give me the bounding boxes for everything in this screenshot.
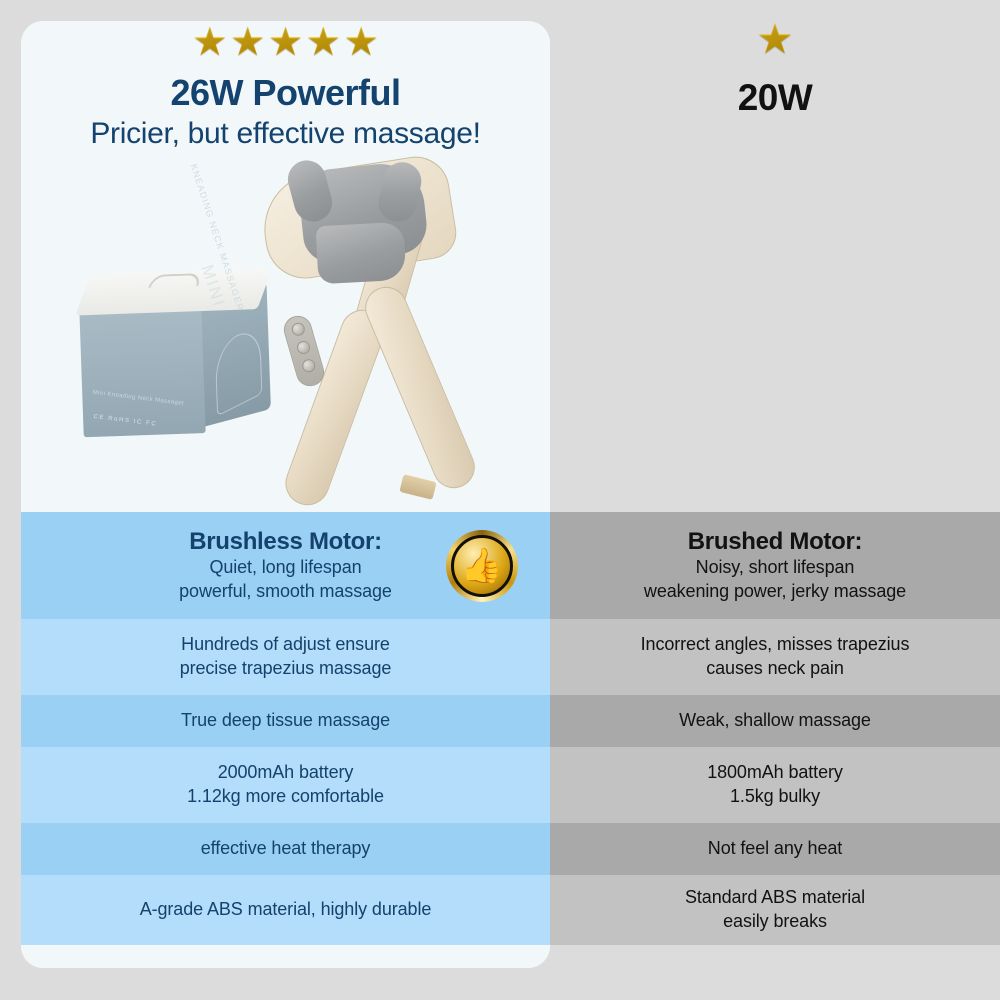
right-product-stage: Shoulder and neck massager Massager shou… xyxy=(550,0,1000,512)
table-cell-left: 2000mAh battery1.12kg more comfortable xyxy=(21,747,550,823)
feature-line: 1.5kg bulky xyxy=(730,785,820,809)
thumbs-up-badge-icon: 👍 xyxy=(446,530,518,602)
box-cert-marks: CE RoHS IC FC xyxy=(93,414,157,428)
table-cell-left: A-grade ABS material, highly durable xyxy=(21,875,550,945)
box-front-face: Mini Kneading Neck Massager CE RoHS IC F… xyxy=(79,305,205,437)
feature-line: Standard ABS material xyxy=(685,886,865,910)
feature-line: Incorrect angles, misses trapezius xyxy=(641,633,910,657)
box-small-text: Mini Kneading Neck Massager xyxy=(92,390,184,407)
table-row: 2000mAh battery1.12kg more comfortable18… xyxy=(0,747,1000,823)
hero-section: ★★★★★ 26W Powerful Pricier, but effectiv… xyxy=(0,0,1000,512)
table-row: effective heat therapyNot feel any heat xyxy=(0,823,1000,875)
feature-line: Hundreds of adjust ensure xyxy=(181,633,390,657)
feature-line: weakening power, jerky massage xyxy=(644,580,906,604)
left-product-stage: Mini Kneading Neck Massager CE RoHS IC F… xyxy=(21,0,550,512)
feature-title: Brushed Motor: xyxy=(688,527,862,556)
feature-line: 1800mAh battery xyxy=(707,761,843,785)
table-cell-left: True deep tissue massage xyxy=(21,695,550,747)
power-button-icon xyxy=(290,321,306,337)
table-cell-left: Hundreds of adjust ensureprecise trapezi… xyxy=(21,619,550,695)
massager-control-panel xyxy=(281,313,328,390)
table-row: Hundreds of adjust ensureprecise trapezi… xyxy=(0,619,1000,695)
table-cell-left: Brushless Motor:Quiet, long lifespanpowe… xyxy=(21,512,550,619)
mode-button-icon xyxy=(295,340,311,356)
feature-line: Not feel any heat xyxy=(708,837,842,861)
feature-line: easily breaks xyxy=(723,910,827,934)
table-cell-right: Not feel any heat xyxy=(550,823,1000,875)
feature-line: True deep tissue massage xyxy=(181,709,390,733)
table-row: True deep tissue massageWeak, shallow ma… xyxy=(0,695,1000,747)
feature-line: Weak, shallow massage xyxy=(679,709,871,733)
feature-line: effective heat therapy xyxy=(201,837,371,861)
table-row: A-grade ABS material, highly durableStan… xyxy=(0,875,1000,945)
feature-line: 2000mAh battery xyxy=(218,761,354,785)
feature-line: precise trapezius massage xyxy=(180,657,392,681)
table-cell-right: Standard ABS materialeasily breaks xyxy=(550,875,1000,945)
hero-left-column: ★★★★★ 26W Powerful Pricier, but effectiv… xyxy=(21,0,550,512)
table-row: Brushless Motor:Quiet, long lifespanpowe… xyxy=(0,512,1000,619)
left-card-footer xyxy=(21,945,550,968)
table-cell-right: Incorrect angles, misses trapeziuscauses… xyxy=(550,619,1000,695)
table-cell-right: Weak, shallow massage xyxy=(550,695,1000,747)
feature-line: powerful, smooth massage xyxy=(179,580,392,604)
left-neck-massager xyxy=(251,160,561,505)
table-cell-right: Brushed Motor:Noisy, short lifespanweake… xyxy=(550,512,1000,619)
table-cell-left: effective heat therapy xyxy=(21,823,550,875)
feature-line: A-grade ABS material, highly durable xyxy=(140,898,432,922)
feature-line: Quiet, long lifespan xyxy=(209,556,361,580)
massager-strap-right xyxy=(359,280,482,494)
table-cell-right: 1800mAh battery1.5kg bulky xyxy=(550,747,1000,823)
mini-retail-box: Mini Kneading Neck Massager CE RoHS IC F… xyxy=(78,269,274,444)
heat-button-icon xyxy=(300,358,316,374)
feature-line: 1.12kg more comfortable xyxy=(187,785,384,809)
comparison-table: Brushless Motor:Quiet, long lifespanpowe… xyxy=(0,512,1000,945)
feature-title: Brushless Motor: xyxy=(189,527,382,556)
feature-line: causes neck pain xyxy=(706,657,844,681)
massager-pad-lower xyxy=(316,222,407,285)
massager-strap-tip xyxy=(399,474,436,500)
thumbs-up-icon: 👍 xyxy=(446,530,518,602)
hero-right-column: ★ 20W xyxy=(550,0,1000,512)
feature-line: Noisy, short lifespan xyxy=(696,556,855,580)
comparison-infographic: ★★★★★ 26W Powerful Pricier, but effectiv… xyxy=(0,0,1000,1000)
